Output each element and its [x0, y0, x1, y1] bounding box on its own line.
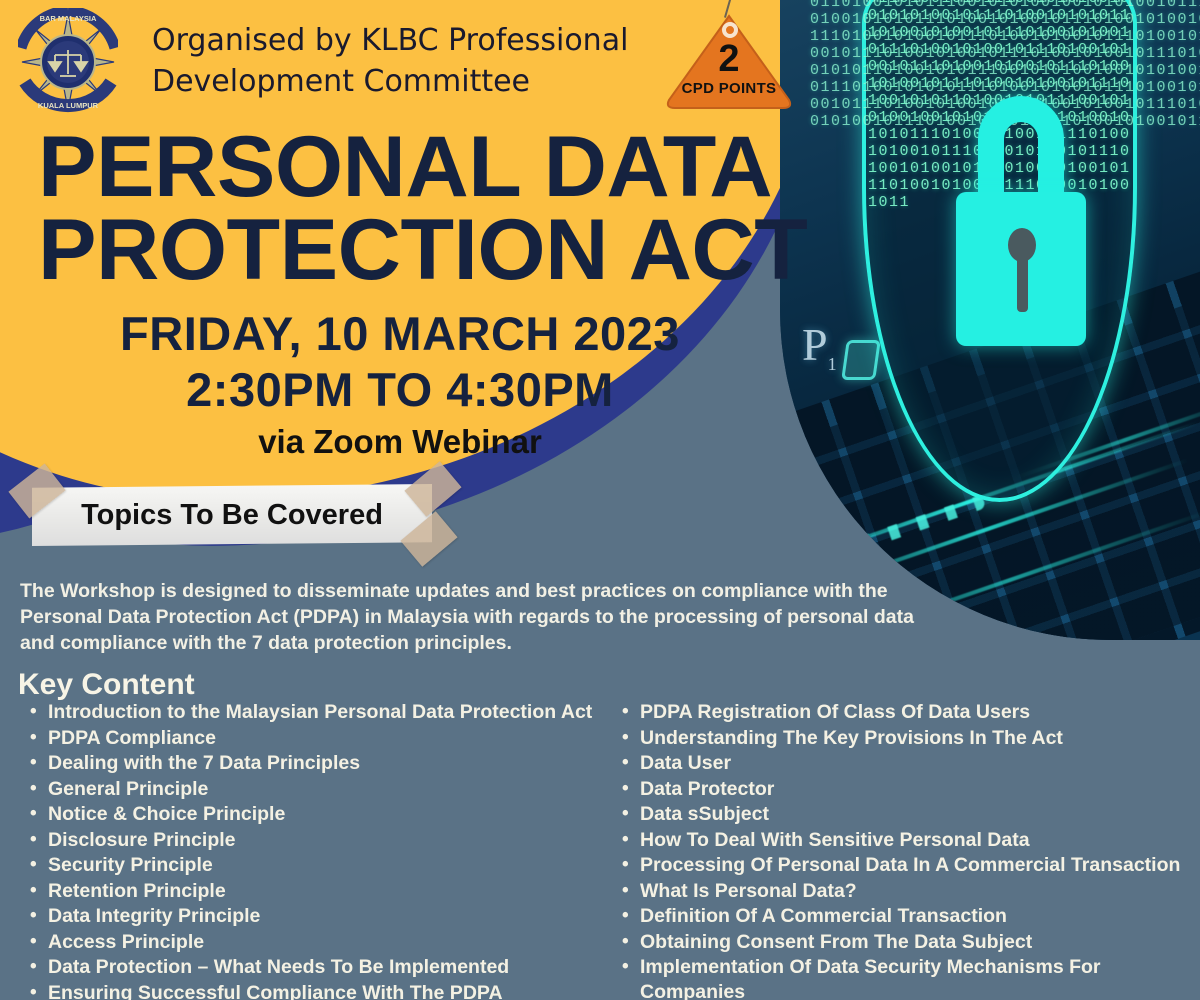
list-item: General Principle: [18, 777, 596, 802]
key-content-left-list: Introduction to the Malaysian Personal D…: [18, 700, 596, 1000]
list-item: Security Principle: [18, 853, 596, 878]
p-key-letter: P: [802, 319, 828, 370]
list-item: Data User: [610, 751, 1188, 776]
bar-malaysia-logo-icon: BAR MALAYSIA KUALA LUMPUR: [18, 8, 118, 116]
cpd-points-number: 2: [665, 40, 793, 78]
poster-title: PERSONAL DATA PROTECTION ACT: [38, 126, 813, 291]
list-item: PDPA Compliance: [18, 726, 596, 751]
list-item: Implementation Of Data Security Mechanis…: [610, 955, 1188, 1000]
padlock-icon: [956, 96, 1086, 346]
list-item: How To Deal With Sensitive Personal Data: [610, 828, 1188, 853]
list-item: Access Principle: [18, 930, 596, 955]
p-key-subscript: 1: [828, 354, 837, 374]
list-item: Definition Of A Commercial Transaction: [610, 904, 1188, 929]
list-item: Data sSubject: [610, 802, 1188, 827]
list-item: Obtaining Consent From The Data Subject: [610, 930, 1188, 955]
list-item: Understanding The Key Provisions In The …: [610, 726, 1188, 751]
padlock-keyhole-stem: [1017, 254, 1028, 312]
topics-banner: Topics To Be Covered: [14, 478, 454, 552]
key-content-right-column: PDPA Registration Of Class Of Data Users…: [610, 700, 1188, 1000]
cpd-points-label: CPD POINTS: [665, 80, 793, 97]
topics-banner-label: Topics To Be Covered: [32, 484, 432, 546]
event-time: 2:30PM TO 4:30PM: [0, 362, 800, 417]
list-item: Disclosure Principle: [18, 828, 596, 853]
list-item: Notice & Choice Principle: [18, 802, 596, 827]
list-item: Data Protector: [610, 777, 1188, 802]
key-content-right-list: PDPA Registration Of Class Of Data Users…: [610, 700, 1188, 1000]
workshop-description: The Workshop is designed to disseminate …: [20, 578, 950, 656]
title-line-2: PROTECTION ACT: [38, 209, 813, 292]
p-key-icon: P1: [802, 318, 837, 375]
list-item: PDPA Registration Of Class Of Data Users: [610, 700, 1188, 725]
poster-header: BAR MALAYSIA KUALA LUMPUR Organised by K…: [0, 0, 820, 120]
svg-text:BAR MALAYSIA: BAR MALAYSIA: [40, 14, 97, 23]
svg-text:KUALA LUMPUR: KUALA LUMPUR: [38, 101, 99, 110]
event-date: FRIDAY, 10 MARCH 2023: [0, 306, 800, 361]
key-content-columns: Introduction to the Malaysian Personal D…: [18, 700, 1188, 1000]
key-content-left-column: Introduction to the Malaysian Personal D…: [18, 700, 596, 1000]
list-item: Ensuring Successful Compliance With The …: [18, 981, 596, 1000]
list-item: What Is Personal Data?: [610, 879, 1188, 904]
list-item: Data Integrity Principle: [18, 904, 596, 929]
key-content-heading: Key Content: [18, 668, 195, 702]
list-item: Processing Of Personal Data In A Commerc…: [610, 853, 1188, 878]
title-line-1: PERSONAL DATA: [38, 126, 813, 209]
list-item: Dealing with the 7 Data Principles: [18, 751, 596, 776]
event-platform: via Zoom Webinar: [0, 423, 800, 461]
poster-canvas: P1 0110100101011100101010010010101001011…: [0, 0, 1200, 1000]
list-item: Introduction to the Malaysian Personal D…: [18, 700, 596, 725]
list-item: Retention Principle: [18, 879, 596, 904]
cpd-points-badge: 2 CPD POINTS: [665, 2, 793, 112]
badge-eyelet: [722, 22, 738, 38]
organised-by-text: Organised by KLBC Professional Developme…: [152, 20, 672, 102]
list-item: Data Protection – What Needs To Be Imple…: [18, 955, 596, 980]
